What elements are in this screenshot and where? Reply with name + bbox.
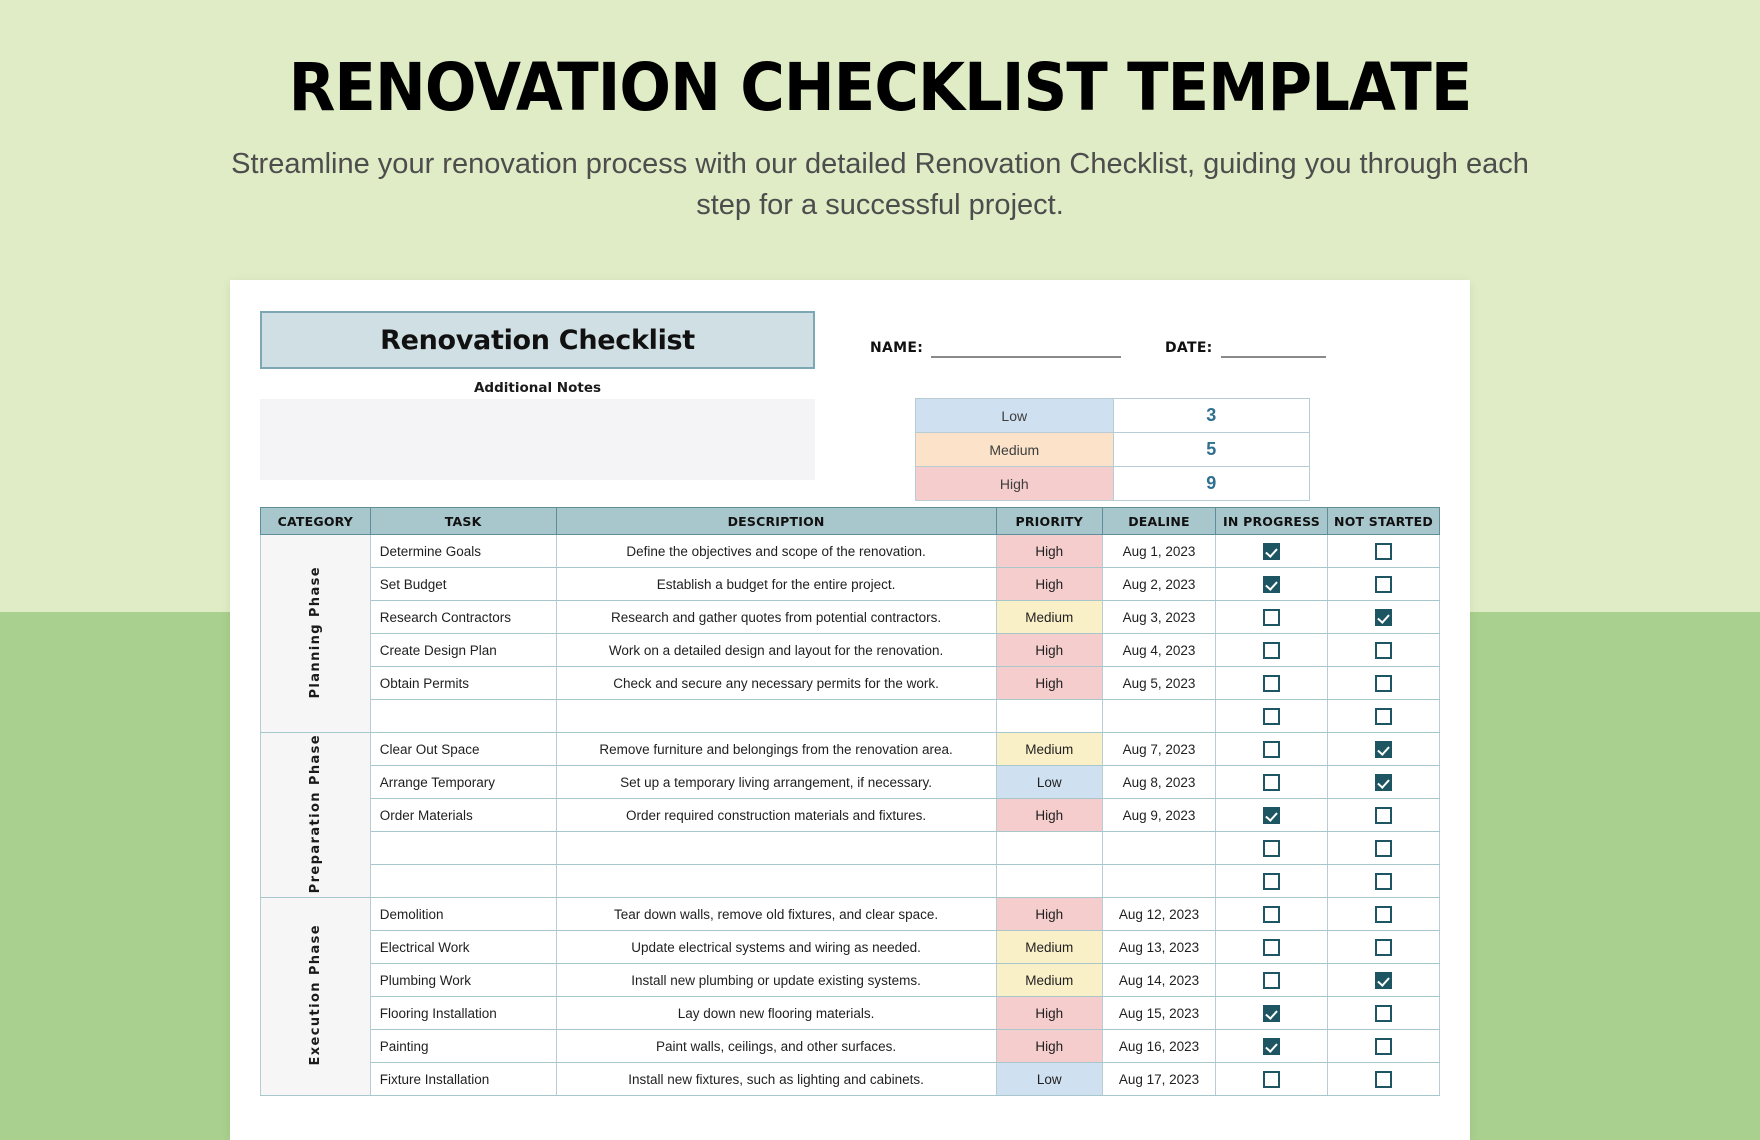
table-row: Order MaterialsOrder required constructi…	[261, 799, 1440, 832]
hero-section: RENOVATION CHECKLIST TEMPLATE Streamline…	[0, 0, 1760, 226]
table-row: PaintingPaint walls, ceilings, and other…	[261, 1030, 1440, 1063]
checkbox-icon[interactable]	[1263, 840, 1280, 857]
in-progress-cell[interactable]	[1216, 964, 1328, 997]
checkbox-icon[interactable]	[1375, 972, 1392, 989]
in-progress-cell[interactable]	[1216, 601, 1328, 634]
deadline-cell[interactable]: Aug 15, 2023	[1102, 997, 1215, 1030]
checkbox-icon[interactable]	[1263, 609, 1280, 626]
description-cell[interactable]: Install new fixtures, such as lighting a…	[556, 1063, 996, 1096]
deadline-cell[interactable]: Aug 14, 2023	[1102, 964, 1215, 997]
checkbox-icon[interactable]	[1375, 873, 1392, 890]
header-not-started: NOT STARTED	[1327, 508, 1439, 535]
in-progress-cell[interactable]	[1216, 799, 1328, 832]
checkbox-icon[interactable]	[1263, 807, 1280, 824]
description-cell[interactable]: Install new plumbing or update existing …	[556, 964, 996, 997]
legend-label: Low	[916, 399, 1114, 433]
not-started-cell[interactable]	[1327, 667, 1439, 700]
date-input[interactable]	[1221, 338, 1326, 358]
page-title: RENOVATION CHECKLIST TEMPLATE	[70, 52, 1689, 124]
checkbox-icon[interactable]	[1375, 939, 1392, 956]
checkbox-icon[interactable]	[1375, 1071, 1392, 1088]
task-cell[interactable]: Plumbing Work	[370, 964, 556, 997]
deadline-cell[interactable]: Aug 16, 2023	[1102, 1030, 1215, 1063]
table-row: Create Design PlanWork on a detailed des…	[261, 634, 1440, 667]
checkbox-icon[interactable]	[1375, 675, 1392, 692]
checkbox-icon[interactable]	[1263, 708, 1280, 725]
task-cell[interactable]: Electrical Work	[370, 931, 556, 964]
not-started-cell[interactable]	[1327, 799, 1439, 832]
checkbox-icon[interactable]	[1375, 543, 1392, 560]
task-cell[interactable]: Clear Out Space	[370, 733, 556, 766]
name-label: NAME:	[870, 340, 923, 358]
description-cell[interactable]: Paint walls, ceilings, and other surface…	[556, 1030, 996, 1063]
not-started-cell[interactable]	[1327, 832, 1439, 865]
in-progress-cell[interactable]	[1216, 535, 1328, 568]
task-cell[interactable]: Determine Goals	[370, 535, 556, 568]
table-row: Arrange TemporarySet up a temporary livi…	[261, 766, 1440, 799]
table-row: Planning PhaseDetermine GoalsDefine the …	[261, 535, 1440, 568]
checkbox-icon[interactable]	[1263, 1005, 1280, 1022]
task-cell[interactable]: Research Contractors	[370, 601, 556, 634]
priority-cell[interactable]: Medium	[996, 964, 1102, 997]
deadline-cell[interactable]: Aug 1, 2023	[1102, 535, 1215, 568]
priority-cell[interactable]: High	[996, 634, 1102, 667]
page-subtitle: Streamline your renovation process with …	[220, 144, 1540, 226]
category-label: Execution Phase	[308, 924, 323, 1066]
in-progress-cell[interactable]	[1216, 898, 1328, 931]
priority-cell[interactable]: Medium	[996, 733, 1102, 766]
header-in-progress: IN PROGRESS	[1216, 508, 1328, 535]
description-cell[interactable]	[556, 832, 996, 865]
legend-row: Low3	[916, 399, 1310, 433]
checkbox-icon[interactable]	[1375, 840, 1392, 857]
deadline-cell[interactable]: Aug 9, 2023	[1102, 799, 1215, 832]
legend-count: 3	[1113, 399, 1309, 433]
sheet-title: Renovation Checklist	[380, 325, 695, 356]
in-progress-cell[interactable]	[1216, 1030, 1328, 1063]
not-started-cell[interactable]	[1327, 700, 1439, 733]
in-progress-cell[interactable]	[1216, 832, 1328, 865]
date-label: DATE:	[1165, 340, 1213, 358]
task-cell[interactable]	[370, 865, 556, 898]
priority-cell[interactable]	[996, 700, 1102, 733]
deadline-cell[interactable]: Aug 8, 2023	[1102, 766, 1215, 799]
description-cell[interactable]: Remove furniture and belongings from the…	[556, 733, 996, 766]
priority-cell[interactable]: High	[996, 1030, 1102, 1063]
checkbox-icon[interactable]	[1375, 642, 1392, 659]
not-started-cell[interactable]	[1327, 634, 1439, 667]
deadline-cell[interactable]	[1102, 865, 1215, 898]
checkbox-icon[interactable]	[1263, 642, 1280, 659]
description-cell[interactable]	[556, 865, 996, 898]
deadline-cell[interactable]: Aug 17, 2023	[1102, 1063, 1215, 1096]
checkbox-icon[interactable]	[1263, 972, 1280, 989]
table-row: Set BudgetEstablish a budget for the ent…	[261, 568, 1440, 601]
not-started-cell[interactable]	[1327, 1063, 1439, 1096]
not-started-cell[interactable]	[1327, 931, 1439, 964]
task-cell[interactable]	[370, 700, 556, 733]
task-cell[interactable]: Demolition	[370, 898, 556, 931]
description-cell[interactable]: Update electrical systems and wiring as …	[556, 931, 996, 964]
deadline-cell[interactable]	[1102, 832, 1215, 865]
checkbox-icon[interactable]	[1375, 1005, 1392, 1022]
priority-cell[interactable]: High	[996, 535, 1102, 568]
deadline-cell[interactable]	[1102, 700, 1215, 733]
priority-cell[interactable]: High	[996, 667, 1102, 700]
deadline-cell[interactable]: Aug 3, 2023	[1102, 601, 1215, 634]
priority-cell[interactable]: High	[996, 898, 1102, 931]
checkbox-icon[interactable]	[1375, 609, 1392, 626]
in-progress-cell[interactable]	[1216, 667, 1328, 700]
category-cell: Execution Phase	[261, 898, 371, 1096]
not-started-cell[interactable]	[1327, 766, 1439, 799]
header-description: DESCRIPTION	[556, 508, 996, 535]
sheet-title-box: Renovation Checklist	[260, 311, 815, 369]
legend-count: 9	[1113, 467, 1309, 501]
priority-cell[interactable]: Low	[996, 766, 1102, 799]
table-row: Flooring InstallationLay down new floori…	[261, 997, 1440, 1030]
checkbox-icon[interactable]	[1263, 741, 1280, 758]
task-cell[interactable]: Create Design Plan	[370, 634, 556, 667]
in-progress-cell[interactable]	[1216, 568, 1328, 601]
deadline-cell[interactable]: Aug 5, 2023	[1102, 667, 1215, 700]
checkbox-icon[interactable]	[1375, 906, 1392, 923]
table-row	[261, 865, 1440, 898]
category-cell: Planning Phase	[261, 535, 371, 733]
checkbox-icon[interactable]	[1263, 939, 1280, 956]
deadline-cell[interactable]: Aug 7, 2023	[1102, 733, 1215, 766]
table-row: Obtain PermitsCheck and secure any neces…	[261, 667, 1440, 700]
not-started-cell[interactable]	[1327, 733, 1439, 766]
description-cell[interactable]: Lay down new flooring materials.	[556, 997, 996, 1030]
priority-cell[interactable]: High	[996, 997, 1102, 1030]
additional-notes-input[interactable]	[260, 399, 815, 480]
deadline-cell[interactable]: Aug 4, 2023	[1102, 634, 1215, 667]
task-cell[interactable]: Order Materials	[370, 799, 556, 832]
header-deadline: DEALINE	[1102, 508, 1215, 535]
in-progress-cell[interactable]	[1216, 700, 1328, 733]
checkbox-icon[interactable]	[1375, 807, 1392, 824]
checkbox-icon[interactable]	[1263, 1071, 1280, 1088]
table-row	[261, 700, 1440, 733]
description-cell[interactable]: Tear down walls, remove old fixtures, an…	[556, 898, 996, 931]
in-progress-cell[interactable]	[1216, 931, 1328, 964]
checkbox-icon[interactable]	[1375, 576, 1392, 593]
name-input[interactable]	[931, 338, 1121, 358]
table-row: Research ContractorsResearch and gather …	[261, 601, 1440, 634]
table-row: Preparation PhaseClear Out SpaceRemove f…	[261, 733, 1440, 766]
not-started-cell[interactable]	[1327, 535, 1439, 568]
table-row: Fixture InstallationInstall new fixtures…	[261, 1063, 1440, 1096]
not-started-cell[interactable]	[1327, 865, 1439, 898]
priority-cell[interactable]: High	[996, 799, 1102, 832]
priority-cell[interactable]	[996, 865, 1102, 898]
task-cell[interactable]: Painting	[370, 1030, 556, 1063]
not-started-cell[interactable]	[1327, 601, 1439, 634]
header-category: CATEGORY	[261, 508, 371, 535]
table-row: Plumbing WorkInstall new plumbing or upd…	[261, 964, 1440, 997]
priority-legend: Low3Medium5High9	[915, 398, 1310, 501]
table-row	[261, 832, 1440, 865]
checkbox-icon[interactable]	[1263, 675, 1280, 692]
legend-row: Medium5	[916, 433, 1310, 467]
priority-cell[interactable]: Medium	[996, 601, 1102, 634]
checkbox-icon[interactable]	[1375, 741, 1392, 758]
checkbox-icon[interactable]	[1263, 906, 1280, 923]
description-cell[interactable]: Establish a budget for the entire projec…	[556, 568, 996, 601]
task-cell[interactable]: Set Budget	[370, 568, 556, 601]
not-started-cell[interactable]	[1327, 568, 1439, 601]
checkbox-icon[interactable]	[1263, 873, 1280, 890]
not-started-cell[interactable]	[1327, 1030, 1439, 1063]
not-started-cell[interactable]	[1327, 898, 1439, 931]
legend-count: 5	[1113, 433, 1309, 467]
checkbox-icon[interactable]	[1375, 774, 1392, 791]
description-cell[interactable]	[556, 700, 996, 733]
additional-notes-label: Additional Notes	[260, 380, 815, 396]
priority-cell[interactable]: High	[996, 568, 1102, 601]
not-started-cell[interactable]	[1327, 964, 1439, 997]
task-cell[interactable]: Fixture Installation	[370, 1063, 556, 1096]
legend-row: High9	[916, 467, 1310, 501]
description-cell[interactable]: Order required construction materials an…	[556, 799, 996, 832]
not-started-cell[interactable]	[1327, 997, 1439, 1030]
category-cell: Preparation Phase	[261, 733, 371, 898]
deadline-cell[interactable]: Aug 2, 2023	[1102, 568, 1215, 601]
category-label: Preparation Phase	[308, 734, 323, 893]
description-cell[interactable]: Check and secure any necessary permits f…	[556, 667, 996, 700]
description-cell[interactable]: Research and gather quotes from potentia…	[556, 601, 996, 634]
deadline-cell[interactable]: Aug 12, 2023	[1102, 898, 1215, 931]
table-row: Electrical WorkUpdate electrical systems…	[261, 931, 1440, 964]
table-row: Execution PhaseDemolitionTear down walls…	[261, 898, 1440, 931]
deadline-cell[interactable]: Aug 13, 2023	[1102, 931, 1215, 964]
checkbox-icon[interactable]	[1263, 543, 1280, 560]
task-cell[interactable]: Flooring Installation	[370, 997, 556, 1030]
in-progress-cell[interactable]	[1216, 865, 1328, 898]
category-label: Planning Phase	[308, 566, 323, 699]
legend-label: High	[916, 467, 1114, 501]
description-cell[interactable]: Set up a temporary living arrangement, i…	[556, 766, 996, 799]
description-cell[interactable]: Define the objectives and scope of the r…	[556, 535, 996, 568]
legend-label: Medium	[916, 433, 1114, 467]
checklist-table: CATEGORY TASK DESCRIPTION PRIORITY DEALI…	[260, 507, 1440, 1096]
in-progress-cell[interactable]	[1216, 1063, 1328, 1096]
in-progress-cell[interactable]	[1216, 766, 1328, 799]
name-field[interactable]: NAME:	[870, 338, 1121, 358]
checkbox-icon[interactable]	[1263, 1038, 1280, 1055]
header-priority: PRIORITY	[996, 508, 1102, 535]
table-header-row: CATEGORY TASK DESCRIPTION PRIORITY DEALI…	[261, 508, 1440, 535]
header-task: TASK	[370, 508, 556, 535]
priority-cell[interactable]: Low	[996, 1063, 1102, 1096]
checkbox-icon[interactable]	[1375, 708, 1392, 725]
in-progress-cell[interactable]	[1216, 733, 1328, 766]
description-cell[interactable]: Work on a detailed design and layout for…	[556, 634, 996, 667]
checkbox-icon[interactable]	[1263, 774, 1280, 791]
priority-cell[interactable]: Medium	[996, 931, 1102, 964]
task-cell[interactable]: Arrange Temporary	[370, 766, 556, 799]
in-progress-cell[interactable]	[1216, 997, 1328, 1030]
in-progress-cell[interactable]	[1216, 634, 1328, 667]
priority-cell[interactable]	[996, 832, 1102, 865]
task-cell[interactable]	[370, 832, 556, 865]
checkbox-icon[interactable]	[1375, 1038, 1392, 1055]
checkbox-icon[interactable]	[1263, 576, 1280, 593]
date-field[interactable]: DATE:	[1165, 338, 1326, 358]
checklist-sheet: Renovation Checklist Additional Notes NA…	[230, 280, 1470, 1140]
task-cell[interactable]: Obtain Permits	[370, 667, 556, 700]
